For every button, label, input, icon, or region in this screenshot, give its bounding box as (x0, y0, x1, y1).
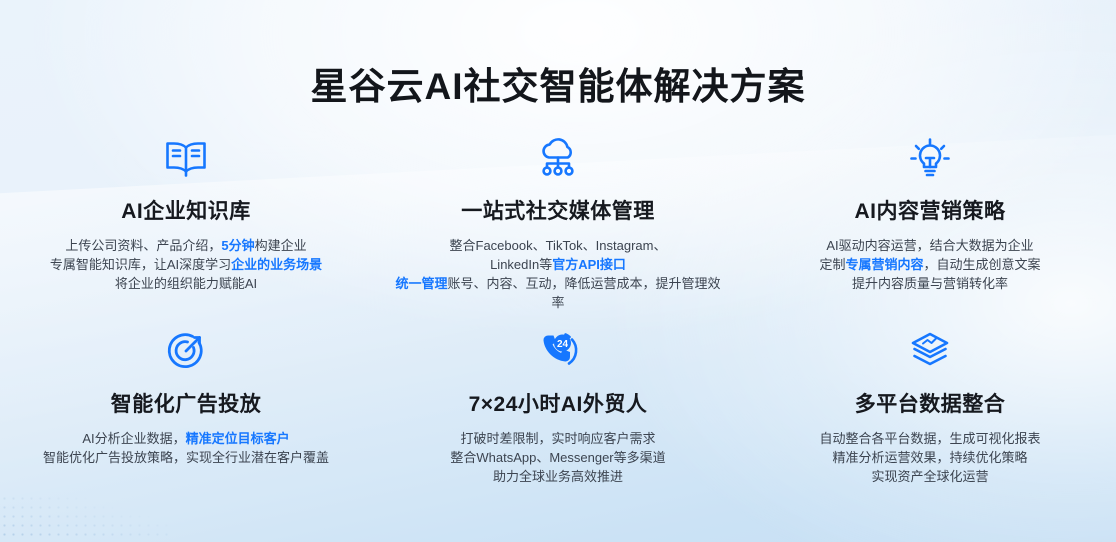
description-line: LinkedIn等官方API接口 (393, 255, 723, 274)
feature-card-description: 上传公司资料、产品介绍，5分钟构建企业专属智能知识库，让AI深度学习企业的业务场… (50, 236, 322, 293)
desc-text: 提升内容质量与营销转化率 (852, 276, 1008, 291)
feature-card[interactable]: 一站式社交媒体管理 整合Facebook、TikTok、Instagram、Li… (372, 132, 744, 317)
desc-text: LinkedIn等 (490, 257, 552, 272)
description-line: 整合Facebook、TikTok、Instagram、 (393, 236, 723, 255)
desc-text: ，自动生成创意文案 (924, 257, 1041, 272)
desc-text: 构建企业 (255, 238, 307, 253)
feature-card[interactable]: AI企业知识库 上传公司资料、产品介绍，5分钟构建企业专属智能知识库，让AI深度… (0, 132, 372, 317)
desc-text: 整合Facebook、TikTok、Instagram、 (450, 238, 667, 253)
description-line: 定制专属营销内容，自动生成创意文案 (819, 255, 1040, 274)
description-line: 专属智能知识库，让AI深度学习企业的业务场景 (50, 255, 322, 274)
description-line: 上传公司资料、产品介绍，5分钟构建企业 (50, 236, 322, 255)
description-line: 统一管理账号、内容、互动，降低运营成本，提升管理效率 (393, 274, 723, 312)
desc-text: 助力全球业务高效推进 (493, 469, 623, 484)
feature-card-description: AI分析企业数据，精准定位目标客户智能优化广告投放策略，实现全行业潜在客户覆盖 (43, 429, 329, 467)
feature-card-description: AI驱动内容运营，结合大数据为企业定制专属营销内容，自动生成创意文案提升内容质量… (819, 236, 1040, 293)
desc-text: AI分析企业数据， (82, 431, 185, 446)
feature-card-description: 打破时差限制，实时响应客户需求整合WhatsApp、Messenger等多渠道助… (450, 429, 665, 486)
target-arrow-icon (164, 325, 208, 377)
desc-text: 打破时差限制，实时响应客户需求 (460, 431, 655, 446)
feature-card-grid: AI企业知识库 上传公司资料、产品介绍，5分钟构建企业专属智能知识库，让AI深度… (0, 132, 1116, 510)
description-line: 精准分析运营效果，持续优化策略 (819, 448, 1040, 467)
description-line: 将企业的组织能力赋能AI (50, 274, 322, 293)
desc-text: 整合WhatsApp、Messenger等多渠道 (450, 450, 665, 465)
highlight-text: 精准定位目标客户 (186, 431, 290, 446)
highlight-text: 官方API接口 (552, 257, 626, 272)
feature-card-title: 一站式社交媒体管理 (461, 195, 655, 225)
feature-card-title: 7×24小时AI外贸人 (469, 388, 648, 418)
desc-text: 将企业的组织能力赋能AI (115, 276, 257, 291)
description-line: 打破时差限制，实时响应客户需求 (450, 429, 665, 448)
highlight-text: 5分钟 (221, 238, 254, 253)
desc-text: 定制 (819, 257, 845, 272)
highlight-text: 专属营销内容 (845, 257, 923, 272)
description-line: 智能优化广告投放策略，实现全行业潜在客户覆盖 (43, 448, 329, 467)
desc-text: 专属智能知识库，让AI深度学习 (50, 257, 231, 272)
phone-24h-icon: 24 (535, 325, 581, 377)
description-line: AI分析企业数据，精准定位目标客户 (43, 429, 329, 448)
highlight-text: 企业的业务场景 (231, 257, 322, 272)
open-book-icon (163, 132, 209, 184)
feature-card[interactable]: 24 7×24小时AI外贸人 打破时差限制，实时响应客户需求整合WhatsApp… (372, 325, 744, 510)
feature-card[interactable]: 智能化广告投放 AI分析企业数据，精准定位目标客户智能优化广告投放策略，实现全行… (0, 325, 372, 510)
feature-card[interactable]: 多平台数据整合 自动整合各平台数据，生成可视化报表精准分析运营效果，持续优化策略… (744, 325, 1116, 510)
description-line: 助力全球业务高效推进 (450, 467, 665, 486)
layers-stack-icon (907, 325, 953, 377)
feature-card-description: 整合Facebook、TikTok、Instagram、LinkedIn等官方A… (393, 236, 723, 312)
feature-card-title: 多平台数据整合 (855, 388, 1006, 418)
svg-text:24: 24 (557, 339, 569, 350)
desc-text: 账号、内容、互动，降低运营成本，提升管理效率 (448, 276, 721, 310)
desc-text: 精准分析运营效果，持续优化策略 (832, 450, 1027, 465)
feature-card-title: AI企业知识库 (121, 195, 251, 225)
desc-text: 自动整合各平台数据，生成可视化报表 (819, 431, 1040, 446)
cloud-network-icon (534, 132, 582, 184)
description-line: 实现资产全球化运营 (819, 467, 1040, 486)
page-title: 星谷云AI社交智能体解决方案 (0, 56, 1116, 110)
highlight-text: 统一管理 (395, 276, 447, 291)
feature-card-title: 智能化广告投放 (111, 388, 262, 418)
feature-card-title: AI内容营销策略 (855, 195, 1006, 225)
description-line: 提升内容质量与营销转化率 (819, 274, 1040, 293)
desc-text: 智能优化广告投放策略，实现全行业潜在客户覆盖 (43, 450, 329, 465)
desc-text: 实现资产全球化运营 (871, 469, 988, 484)
description-line: AI驱动内容运营，结合大数据为企业 (819, 236, 1040, 255)
feature-card[interactable]: AI内容营销策略 AI驱动内容运营，结合大数据为企业定制专属营销内容，自动生成创… (744, 132, 1116, 317)
lightbulb-icon (908, 132, 952, 184)
feature-card-description: 自动整合各平台数据，生成可视化报表精准分析运营效果，持续优化策略实现资产全球化运… (819, 429, 1040, 486)
solution-slide: 星谷云AI社交智能体解决方案 AI企业知识库 上传公司资料、产品介绍，5分钟构建… (0, 0, 1116, 542)
desc-text: 上传公司资料、产品介绍， (65, 238, 221, 253)
description-line: 整合WhatsApp、Messenger等多渠道 (450, 448, 665, 467)
desc-text: AI驱动内容运营，结合大数据为企业 (826, 238, 1033, 253)
description-line: 自动整合各平台数据，生成可视化报表 (819, 429, 1040, 448)
